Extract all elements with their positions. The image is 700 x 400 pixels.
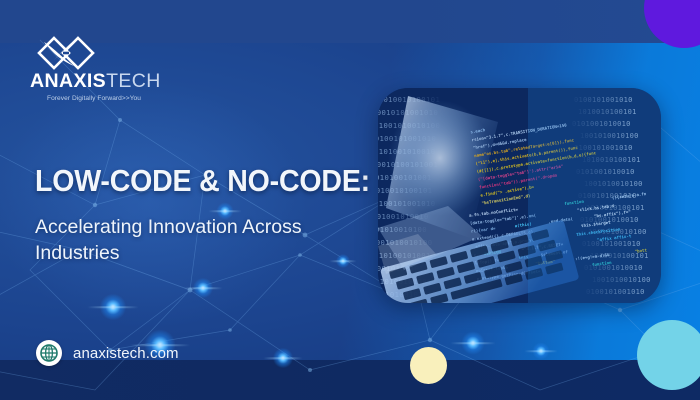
anaxis-diamond-logo-icon bbox=[34, 36, 98, 70]
brand-name-primary: ANAXIS bbox=[30, 70, 106, 92]
decorative-teal-circle bbox=[637, 320, 700, 390]
globe-icon bbox=[36, 340, 62, 366]
hero-image: 01010010100101 10010101001010 0100101001… bbox=[378, 88, 661, 303]
marketing-banner: ANAXISTECH Forever Digitally Forward>>Yo… bbox=[0, 0, 700, 400]
brand-wordmark: ANAXISTECH bbox=[30, 72, 158, 92]
website-footer[interactable]: anaxistech.com bbox=[36, 340, 179, 366]
hero-code-laptop-illustration: 01010010100101 10010101001010 0100101001… bbox=[378, 88, 661, 303]
decorative-cream-circle bbox=[410, 347, 447, 384]
brand-name-secondary: TECH bbox=[106, 70, 161, 92]
headline-block: LOW-CODE & NO-CODE: Accelerating Innovat… bbox=[35, 165, 385, 266]
website-url[interactable]: anaxistech.com bbox=[73, 345, 179, 362]
brand-tagline: Forever Digitally Forward>>You bbox=[30, 95, 158, 102]
brand-logo: ANAXISTECH Forever Digitally Forward>>Yo… bbox=[30, 36, 158, 102]
page-subtitle: Accelerating Innovation Across Industrie… bbox=[35, 214, 365, 267]
page-title: LOW-CODE & NO-CODE: bbox=[35, 165, 357, 198]
